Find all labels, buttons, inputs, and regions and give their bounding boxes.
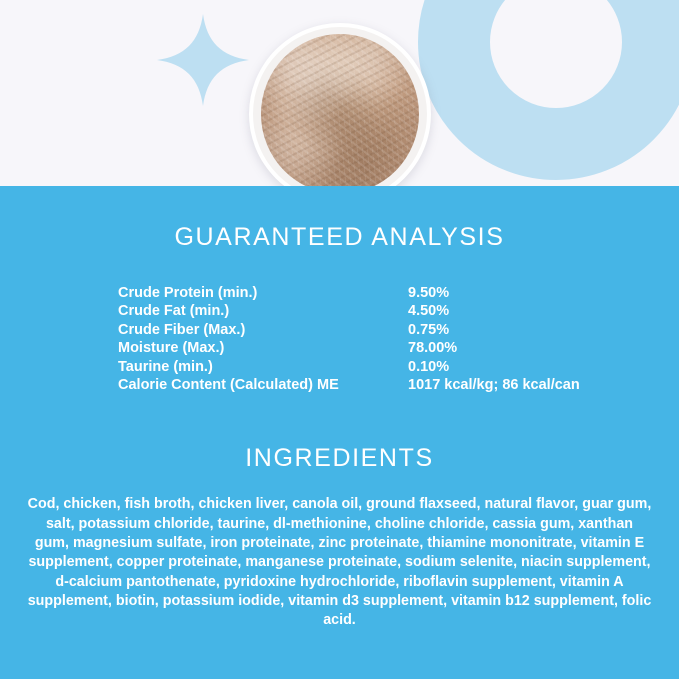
table-row: Calorie Content (Calculated) ME 1017 kca… bbox=[118, 376, 638, 394]
analysis-value: 78.00% bbox=[408, 339, 638, 357]
analysis-label: Crude Fat (min.) bbox=[118, 302, 408, 320]
food-bowl-image bbox=[249, 23, 431, 186]
analysis-value: 4.50% bbox=[408, 302, 638, 320]
analysis-label: Crude Fiber (Max.) bbox=[118, 321, 408, 339]
blue-ring-decoration bbox=[418, 0, 679, 180]
table-row: Crude Protein (min.) 9.50% bbox=[118, 284, 638, 302]
table-row: Crude Fat (min.) 4.50% bbox=[118, 302, 638, 320]
analysis-value: 1017 kcal/kg; 86 kcal/can bbox=[408, 376, 638, 394]
analysis-label: Taurine (min.) bbox=[118, 358, 408, 376]
pate-food-surface bbox=[261, 34, 419, 186]
hero-image-area bbox=[0, 0, 679, 186]
table-row: Taurine (min.) 0.10% bbox=[118, 358, 638, 376]
guaranteed-analysis-table: Crude Protein (min.) 9.50% Crude Fat (mi… bbox=[118, 284, 638, 394]
analysis-value: 0.10% bbox=[408, 358, 638, 376]
table-row: Crude Fiber (Max.) 0.75% bbox=[118, 321, 638, 339]
analysis-label: Moisture (Max.) bbox=[118, 339, 408, 357]
nutrition-content-band: GUARANTEED ANALYSIS Crude Protein (min.)… bbox=[0, 186, 679, 679]
table-row: Moisture (Max.) 78.00% bbox=[118, 339, 638, 357]
analysis-value: 0.75% bbox=[408, 321, 638, 339]
ingredients-title: INGREDIENTS bbox=[0, 444, 679, 473]
analysis-label: Calorie Content (Calculated) ME bbox=[118, 376, 408, 394]
analysis-label: Crude Protein (min.) bbox=[118, 284, 408, 302]
guaranteed-analysis-title: GUARANTEED ANALYSIS bbox=[0, 223, 679, 252]
sparkle-star-icon bbox=[157, 14, 249, 106]
nutrition-panel: GUARANTEED ANALYSIS Crude Protein (min.)… bbox=[0, 0, 679, 679]
analysis-value: 9.50% bbox=[408, 284, 638, 302]
ingredients-list-text: Cod, chicken, fish broth, chicken liver,… bbox=[27, 495, 652, 630]
